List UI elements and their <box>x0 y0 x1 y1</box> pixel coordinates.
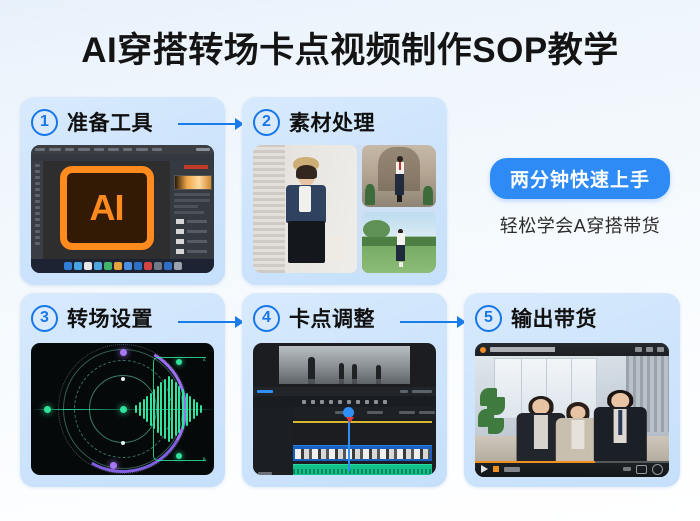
player-video-frame <box>475 356 669 461</box>
player-settings-icon[interactable] <box>646 347 653 352</box>
step-2-header: 2 素材处理 <box>253 107 375 137</box>
player-app-icon <box>480 347 486 353</box>
radar-node-top <box>120 349 127 356</box>
player-title-bar <box>475 343 669 356</box>
video-player-image <box>475 343 669 477</box>
outfit-photo-side-column <box>362 145 436 273</box>
page-title: AI穿搭转场卡点视频制作SOP教学 <box>0 22 700 73</box>
player-menu-icon[interactable] <box>657 347 664 352</box>
step-4-header: 4 卡点调整 <box>253 303 375 333</box>
arrow-step4-to-step5 <box>400 315 466 329</box>
editor-preview-monitor <box>279 346 410 384</box>
step-card-2[interactable]: 2 素材处理 <box>242 97 447 285</box>
step-1-header: 1 准备工具 <box>31 107 153 137</box>
step-number-badge-2: 2 <box>253 109 280 136</box>
step-3-thumbnail: A B <box>31 343 214 475</box>
picture-in-picture-icon[interactable] <box>636 465 647 474</box>
outfit-photo-secondary-1 <box>362 145 436 207</box>
panel-red-bar <box>184 165 208 169</box>
person-right <box>591 390 649 461</box>
editor-video-track[interactable] <box>293 445 432 461</box>
background-plant <box>477 388 508 443</box>
app-canvas: AI <box>43 161 170 259</box>
radar-node-bottom <box>110 462 117 469</box>
app-panels <box>170 161 214 259</box>
video-editor-image <box>253 343 436 475</box>
outfit-photo-secondary-2 <box>362 212 436 274</box>
outfit-photo-grid <box>253 145 436 273</box>
play-icon[interactable] <box>481 465 488 473</box>
editor-track-headers <box>253 407 293 475</box>
bracket-node-top <box>176 359 182 365</box>
ai-logo: AI <box>60 166 154 250</box>
step-title-4: 卡点调整 <box>289 303 375 333</box>
step-title-2: 素材处理 <box>289 107 375 137</box>
step-5-thumbnail <box>475 343 669 477</box>
fullscreen-icon[interactable] <box>652 464 663 475</box>
editor-audio-track[interactable] <box>293 464 432 475</box>
arrow-line <box>400 321 457 323</box>
stop-icon[interactable] <box>493 466 499 472</box>
callout-subtitle: 轻松学会A穿搭带货 <box>472 212 688 238</box>
app-menubar <box>31 145 214 154</box>
callout-block: 两分钟快速上手 轻松学会A穿搭带货 <box>472 158 688 238</box>
infographic-page: AI穿搭转场卡点视频制作SOP教学 1 准备工具 <box>0 0 700 521</box>
app-toolbar <box>31 161 43 259</box>
player-quality-label[interactable] <box>623 467 631 471</box>
step-number-badge-5: 5 <box>475 305 502 332</box>
step-5-header: 5 输出带货 <box>475 303 597 333</box>
highlight-badge[interactable]: 两分钟快速上手 <box>490 158 670 199</box>
player-minimize-icon[interactable] <box>635 347 642 352</box>
step-number-badge-3: 3 <box>31 305 58 332</box>
outfit-photo-main <box>253 145 357 273</box>
step-1-thumbnail: AI <box>31 145 214 273</box>
player-progress-fill <box>475 461 595 463</box>
radar-marker-1 <box>121 377 125 381</box>
step-card-5[interactable]: 5 输出带货 <box>464 293 680 487</box>
gradient-swatch <box>174 175 212 190</box>
step-number-badge-4: 4 <box>253 305 280 332</box>
audio-waveform <box>135 376 202 442</box>
illustrator-workspace-image: AI <box>31 145 214 273</box>
step-title-1: 准备工具 <box>67 107 153 137</box>
radar-node-center <box>120 406 127 413</box>
player-control-bar[interactable] <box>475 461 669 477</box>
player-progress-bar[interactable] <box>475 461 669 463</box>
player-video-title <box>490 347 631 352</box>
step-2-thumbnail <box>253 145 436 273</box>
radar-marker-2 <box>121 441 125 445</box>
editor-tool-strip[interactable] <box>253 396 436 407</box>
os-dock <box>31 259 214 273</box>
editor-marker-icon <box>346 417 354 423</box>
bracket-node-bottom <box>176 453 182 459</box>
arrow-step3-to-step4 <box>178 315 244 329</box>
step-title-5: 输出带货 <box>511 303 597 333</box>
editor-timeline-ruler[interactable] <box>293 407 436 418</box>
arrow-line <box>178 321 235 323</box>
step-4-thumbnail <box>253 343 436 475</box>
arrow-line <box>178 123 235 125</box>
radar-node-left <box>44 406 51 413</box>
model-figure <box>253 145 357 273</box>
step-number-badge-1: 1 <box>31 109 58 136</box>
arrow-step1-to-step2 <box>178 117 244 131</box>
step-title-3: 转场设置 <box>67 303 153 333</box>
player-time-label <box>504 467 520 472</box>
transition-radar-image: A B <box>31 343 214 475</box>
step-3-header: 3 转场设置 <box>31 303 153 333</box>
app-options-bar <box>31 154 214 161</box>
editor-project-bar <box>253 387 436 396</box>
editor-guide-line <box>293 421 432 423</box>
